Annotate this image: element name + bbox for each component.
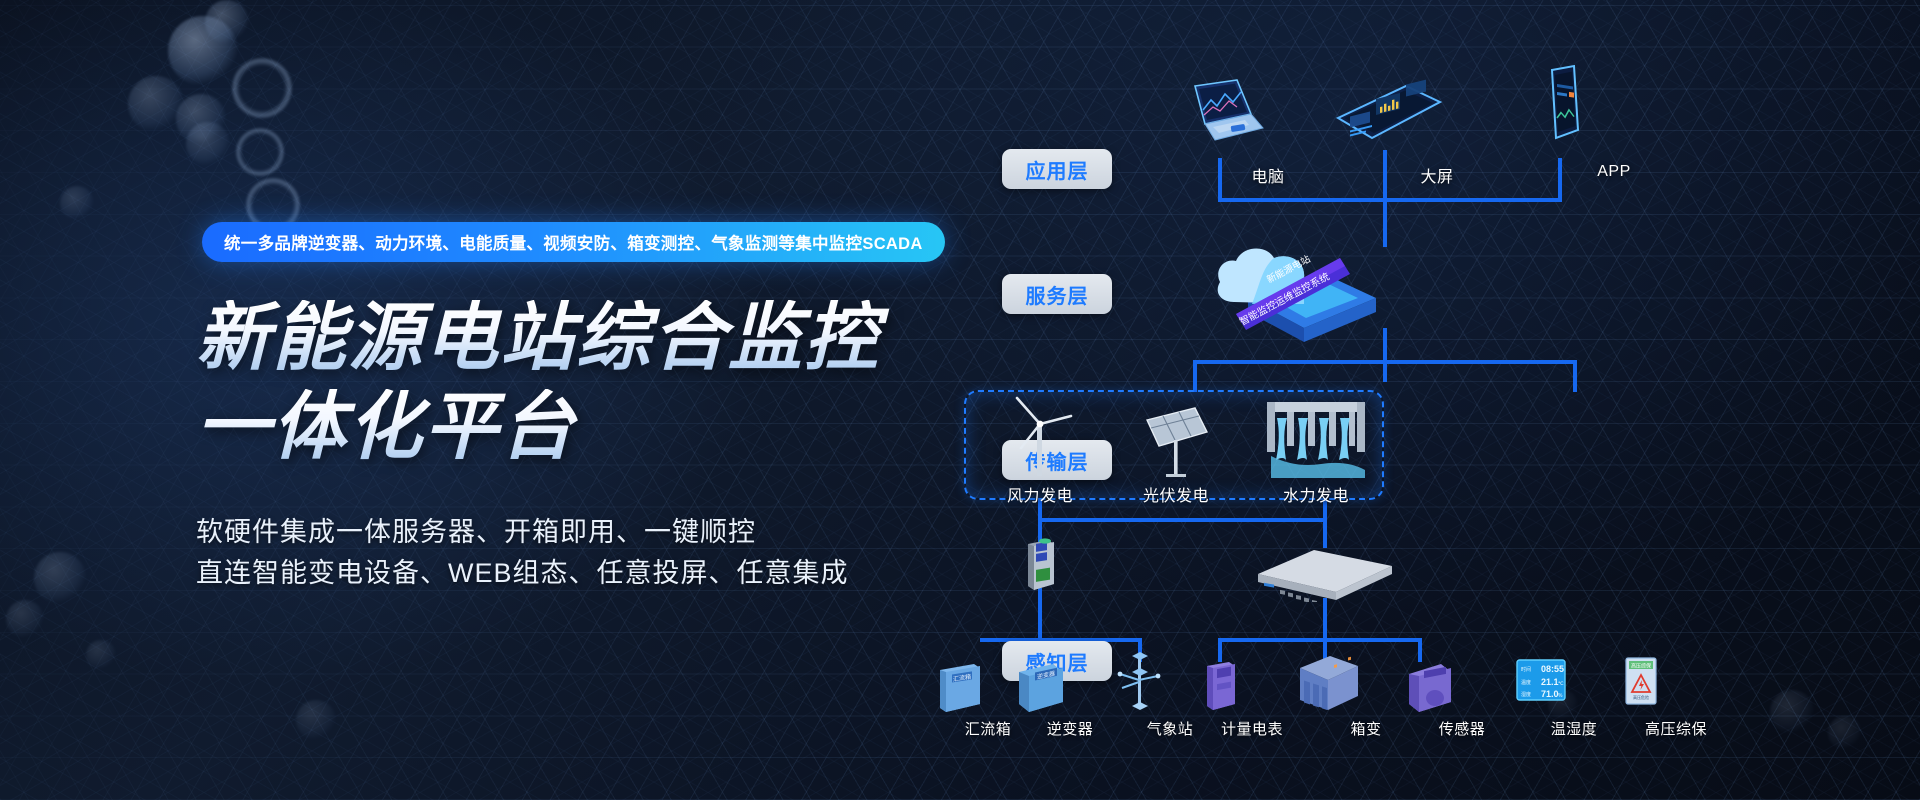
- temp-humidity-meter-icon[interactable]: 时间 08:55 温度 21.1 ℃ 湿度 71.0 %: [1505, 656, 1575, 716]
- node-label-energy-meter: 计量电表: [1221, 718, 1283, 739]
- hero-copy-panel: 统一多品牌逆变器、动力环境、电能质量、视频安防、箱变测控、气象监测等集中监控SC…: [0, 0, 980, 800]
- layer-label: 应用层: [1026, 155, 1089, 184]
- hv-face-text: 高压综保: [1631, 663, 1651, 670]
- th-hum-unit: %: [1558, 693, 1563, 699]
- layer-pill-application[interactable]: 应用层: [1002, 149, 1112, 189]
- node-label-sensor: 传感器: [1439, 718, 1486, 739]
- node-label-inverter: 逆变器: [1047, 718, 1094, 739]
- node-label-app: APP: [1597, 163, 1631, 181]
- th-temp-label: 温度: [1521, 679, 1531, 686]
- th-time-value: 08:55: [1541, 664, 1564, 674]
- subtitle-line-2: 直连智能变电设备、WEB组态、任意投屏、任意集成: [196, 553, 956, 594]
- th-time-label: 时间: [1521, 666, 1531, 673]
- din-rail-gateway-icon[interactable]: [1010, 536, 1070, 594]
- rack-server-icon[interactable]: [1250, 544, 1400, 602]
- hv-protection-icon[interactable]: 高压综保 高压危险: [1614, 654, 1666, 716]
- sensor-icon[interactable]: [1399, 660, 1461, 716]
- th-temp-value: 21.1: [1541, 677, 1559, 687]
- wind-turbine-icon[interactable]: [1005, 396, 1075, 478]
- node-label-weather-station: 气象站: [1147, 718, 1194, 739]
- banner-stage: 统一多品牌逆变器、动力环境、电能质量、视频安防、箱变测控、气象监测等集中监控SC…: [0, 0, 1920, 800]
- combiner-box-icon[interactable]: 汇流箱: [930, 660, 990, 716]
- node-label-pc: 电脑: [1251, 163, 1284, 187]
- layer-label: 服务层: [1026, 280, 1089, 309]
- page-title: 新能源电站综合监控 一体化平台: [196, 300, 956, 465]
- node-label-bigscreen: 大屏: [1420, 163, 1453, 187]
- node-label-temp-humidity: 温湿度: [1551, 718, 1598, 739]
- th-temp-unit: ℃: [1558, 681, 1564, 687]
- node-label-box-substation: 箱变: [1350, 718, 1381, 739]
- energy-meter-icon[interactable]: [1195, 658, 1245, 716]
- node-label-hydro: 水力发电: [1283, 482, 1349, 506]
- node-label-solar: 光伏发电: [1143, 482, 1209, 506]
- bigscreen-pedestal: [1348, 122, 1422, 162]
- title-line-1: 新能源电站综合监控: [196, 300, 956, 375]
- architecture-diagram: 应用层 服务层 传输层 感知层: [980, 0, 1920, 800]
- feature-badge: 统一多品牌逆变器、动力环境、电能质量、视频安防、箱变测控、气象监测等集中监控SC…: [202, 222, 945, 262]
- box-substation-icon[interactable]: [1290, 652, 1366, 716]
- svg-text:高压危险: 高压危险: [1633, 694, 1649, 700]
- inverter-icon[interactable]: 逆变器: [1009, 660, 1071, 716]
- th-hum-label: 湿度: [1521, 691, 1531, 698]
- subtitle-line-1: 软硬件集成一体服务器、开箱即用、一键顺控: [196, 512, 956, 553]
- solar-panel-icon[interactable]: [1139, 398, 1213, 478]
- node-label-hv-protection: 高压综保: [1645, 718, 1707, 739]
- laptop-pedestal: [1183, 122, 1257, 162]
- weather-station-icon[interactable]: [1110, 650, 1170, 716]
- hero-subtitle: 软硬件集成一体服务器、开箱即用、一键顺控 直连智能变电设备、WEB组态、任意投屏…: [196, 512, 956, 593]
- node-label-combiner-box: 汇流箱: [965, 718, 1012, 739]
- layer-pill-service[interactable]: 服务层: [1002, 274, 1112, 314]
- cloud-icon[interactable]: 新能源电站 智能监控运维监控系统: [1190, 228, 1380, 348]
- app-pedestal: [1525, 124, 1599, 164]
- hydro-dam-icon[interactable]: [1261, 394, 1371, 478]
- node-label-wind: 风力发电: [1007, 482, 1073, 506]
- title-line-2: 一体化平台: [196, 389, 956, 464]
- th-hum-value: 71.0: [1541, 689, 1559, 699]
